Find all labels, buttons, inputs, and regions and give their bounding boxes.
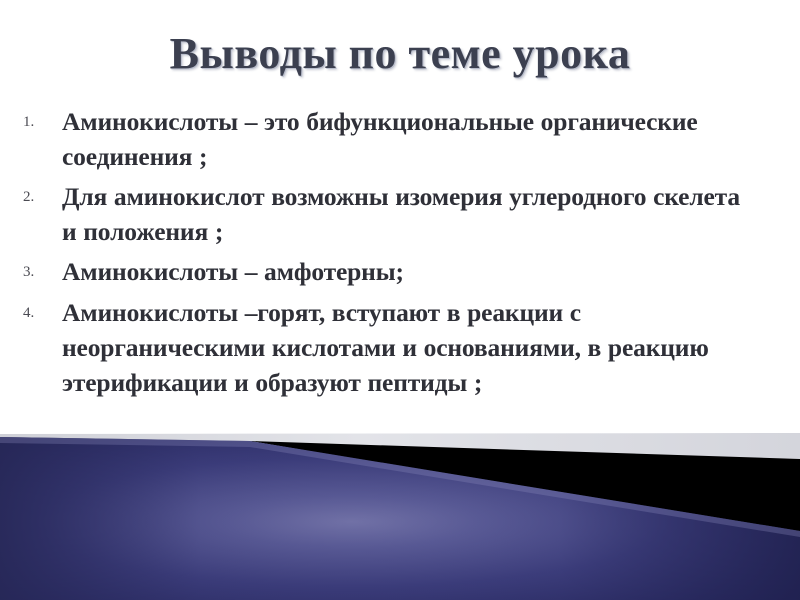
list-item: 4. Аминокислоты –горят, вступают в реакц… bbox=[16, 295, 740, 400]
list-item-text: Для аминокислот возможны изомерия углеро… bbox=[62, 179, 740, 249]
list-item: 3. Аминокислоты – амфотерны; bbox=[16, 254, 740, 290]
presentation-slide: Выводы по теме урока 1. Аминокислоты – э… bbox=[0, 0, 800, 600]
list-item-number: 2. bbox=[16, 179, 62, 215]
list-item-text: Аминокислоты – это бифункциональные орга… bbox=[62, 104, 740, 174]
list-item-text: Аминокислоты – амфотерны; bbox=[62, 254, 740, 289]
conclusions-list: 1. Аминокислоты – это бифункциональные о… bbox=[16, 104, 740, 405]
navy-edge-highlight bbox=[0, 437, 800, 537]
black-wedge bbox=[250, 441, 800, 534]
list-item-number: 1. bbox=[16, 104, 62, 140]
list-item-number: 4. bbox=[16, 295, 62, 331]
list-item: 1. Аминокислоты – это бифункциональные о… bbox=[16, 104, 740, 174]
list-item: 2. Для аминокислот возможны изомерия угл… bbox=[16, 179, 740, 249]
slide-title: Выводы по теме урока bbox=[0, 28, 800, 80]
list-item-text: Аминокислоты –горят, вступают в реакции … bbox=[62, 295, 740, 400]
gray-wedge bbox=[0, 433, 800, 459]
navy-panel-shading bbox=[0, 437, 800, 600]
navy-panel bbox=[0, 437, 800, 600]
list-item-number: 3. bbox=[16, 254, 62, 290]
